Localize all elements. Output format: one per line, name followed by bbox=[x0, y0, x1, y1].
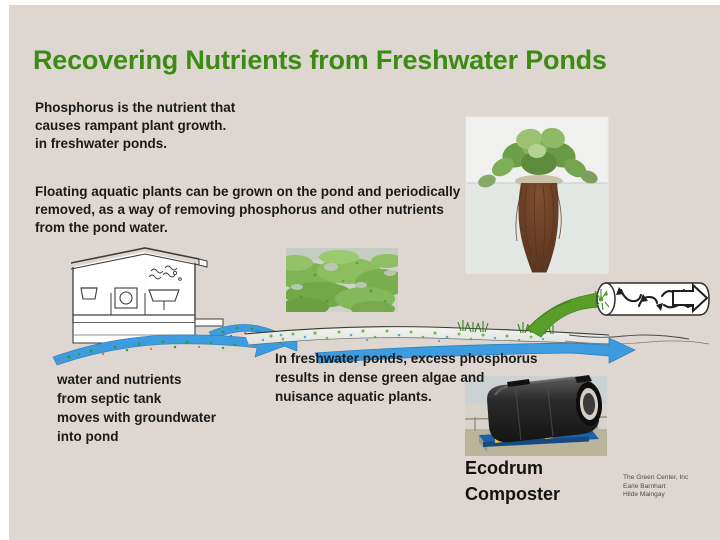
composter-drum-schematic bbox=[595, 283, 709, 315]
drum-arrow-heads bbox=[616, 287, 695, 311]
plant-harvest-arrow bbox=[525, 293, 597, 337]
caption-pond-phosphorus: In freshwater ponds, excess phosphorus r… bbox=[275, 349, 565, 406]
presentation-slide: Recovering Nutrients from Freshwater Pon… bbox=[0, 0, 720, 540]
page-title: Recovering Nutrients from Freshwater Pon… bbox=[33, 45, 693, 76]
drum-inlet-material bbox=[595, 289, 609, 310]
hyacinth-leaves bbox=[477, 125, 600, 189]
drum-mixing-arrows bbox=[621, 290, 688, 307]
caption-septic-groundwater: water and nutrients from septic tank mov… bbox=[57, 370, 287, 446]
pond-algae-photo bbox=[277, 248, 407, 317]
algae-speckles bbox=[262, 329, 544, 342]
credits-text: The Green Center, Inc Earle Barnhart Hil… bbox=[623, 474, 720, 500]
pond-water-body bbox=[245, 320, 709, 345]
slide-canvas: Recovering Nutrients from Freshwater Pon… bbox=[9, 5, 720, 540]
toilet-fixture-icon bbox=[81, 288, 97, 299]
caption-ecodrum-composter: Ecodrum Composter bbox=[465, 455, 635, 507]
emergent-plants bbox=[458, 320, 553, 334]
algae-mass bbox=[277, 250, 407, 317]
shore-line bbox=[565, 335, 709, 344]
water-hyacinth-photo bbox=[466, 117, 608, 299]
groundwater-arrow-upper bbox=[209, 324, 297, 351]
vent-squiggles bbox=[149, 266, 181, 280]
sink-fixture-icon bbox=[149, 290, 179, 310]
house-cross-section-drawing bbox=[71, 248, 223, 343]
appliance-icon bbox=[115, 288, 137, 308]
hyacinth-roots bbox=[516, 183, 561, 299]
paragraph-floating-plants: Floating aquatic plants can be grown on … bbox=[35, 183, 465, 237]
groundwater-arrow-lower bbox=[53, 330, 285, 365]
paragraph-phosphorus-intro: Phosphorus is the nutrient that causes r… bbox=[35, 99, 355, 153]
